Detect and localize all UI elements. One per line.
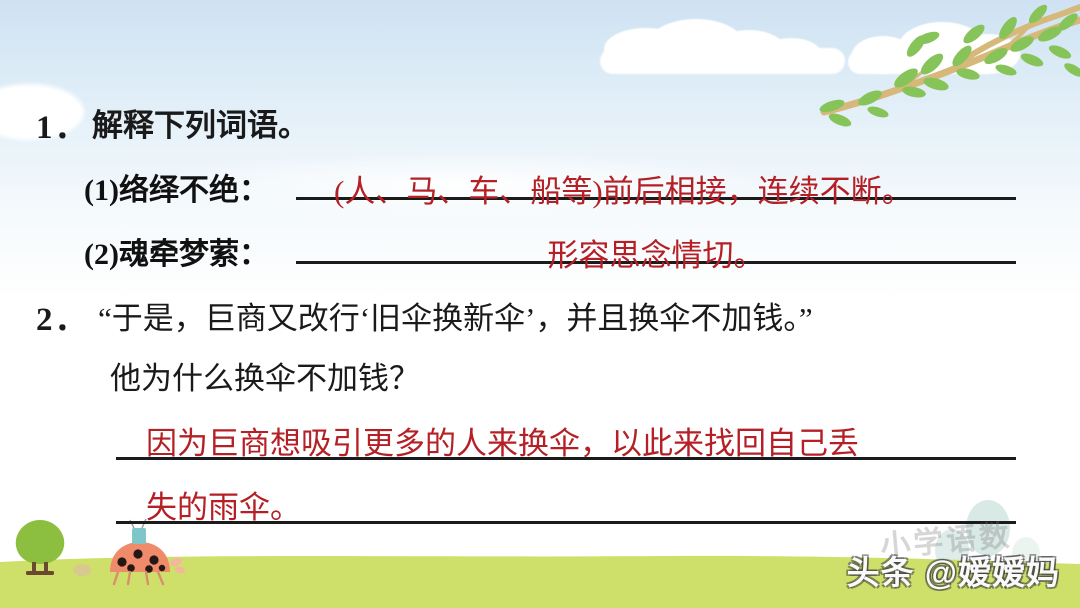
slide-canvas: 1． 解释下列词语。 (1)络绎不绝： (人、马、车、船等)前后相接，连续不断。… xyxy=(0,0,1080,608)
question-1-item-1-answer: (人、马、车、船等)前后相接，连续不断。 xyxy=(334,166,913,211)
question-1-item-1-label: (1)络绎不绝： xyxy=(84,165,269,209)
question-2-prompt-line-2: 他为什么换伞不加钱？ xyxy=(110,353,420,398)
question-1-number: 1． xyxy=(36,100,90,148)
question-2-answer-line-2: 失的雨伞。 xyxy=(146,482,301,527)
question-2-answer-line-1: 因为巨商想吸引更多的人来换伞，以此来找回自己丢 xyxy=(146,418,859,463)
slide-content: 1． 解释下列词语。 (1)络绎不绝： (人、马、车、船等)前后相接，连续不断。… xyxy=(0,0,1080,608)
question-1-item-2-answer: 形容思念情切。 xyxy=(296,230,1016,275)
question-1-item-2-label: (2)魂牵梦萦： xyxy=(84,229,269,273)
channel-watermark: 头条 @嫒嫒妈 xyxy=(847,546,1060,594)
question-2-number: 2． xyxy=(36,292,90,340)
question-1-prompt: 解释下列词语。 xyxy=(92,100,309,145)
question-2-prompt-line-1: “于是，巨商又改行‘旧伞换新伞’，并且换伞不加钱。” xyxy=(98,293,813,338)
